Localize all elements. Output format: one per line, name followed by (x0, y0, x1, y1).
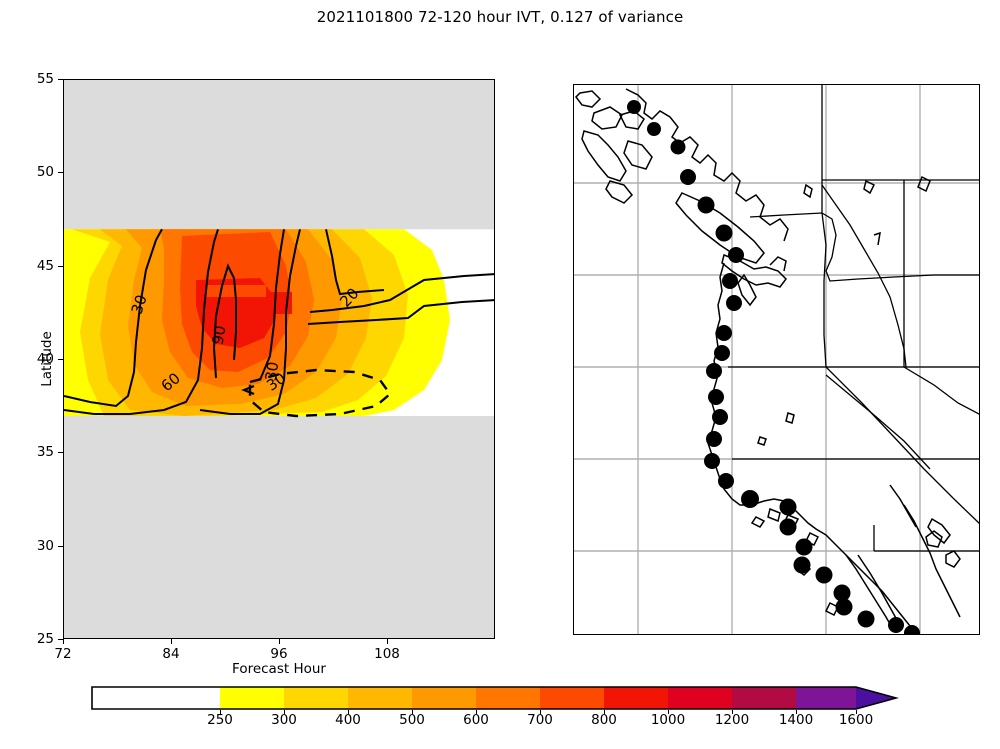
cbar-tick-label: 250 (207, 712, 233, 728)
cbar-tick-label: 800 (591, 712, 617, 728)
cbar-tick-label: 1000 (651, 712, 685, 728)
hovmoller-svg: 30 60 90 30 20 30 (64, 80, 495, 639)
ytick-mark (58, 79, 63, 80)
ytick-label: 45 (37, 258, 54, 274)
ytick-mark (58, 172, 63, 173)
cbar-tick-label: 400 (335, 712, 361, 728)
station-marker (780, 519, 797, 536)
contour-label: 90 (209, 324, 230, 346)
station-marker (706, 431, 722, 447)
xtick-mark (63, 639, 64, 644)
station-marker (718, 473, 734, 489)
xtick-mark (387, 639, 388, 644)
ytick-mark (58, 546, 63, 547)
station-marker (796, 539, 813, 556)
map-svg (574, 85, 980, 635)
station-marker (671, 140, 686, 155)
station-marker (706, 363, 722, 379)
station-marker (714, 345, 730, 361)
cbar-tick-label: 500 (399, 712, 425, 728)
station-marker (704, 453, 720, 469)
reference-map-panel (573, 84, 980, 635)
hovmoller-plot-area: 30 60 90 30 20 30 (63, 79, 495, 639)
station-marker (726, 295, 742, 311)
xtick-label: 96 (270, 646, 287, 662)
ytick-label: 30 (37, 538, 54, 554)
xtick-mark (171, 639, 172, 644)
cbar-tick-label: 700 (527, 712, 553, 728)
hovmoller-panel: 30 60 90 30 20 30 55 50 45 40 35 30 25 (63, 79, 495, 639)
filled-contours (64, 229, 450, 416)
station-marker (708, 389, 724, 405)
station-marker (716, 225, 733, 242)
map-plot-area (573, 84, 980, 635)
station-marker (836, 599, 853, 616)
station-marker (722, 273, 738, 289)
xtick-label: 108 (374, 646, 400, 662)
ytick-mark (58, 266, 63, 267)
station-marker (888, 617, 904, 633)
station-marker (712, 409, 728, 425)
colorbar: 250 300 400 500 600 700 800 1000 1200 14… (91, 686, 909, 710)
x-axis-label: Forecast Hour (63, 661, 495, 677)
y-axis-label: Latitude (39, 331, 55, 387)
xtick-label: 72 (54, 646, 71, 662)
colorbar-svg (91, 686, 909, 710)
cbar-tick-label: 1600 (839, 712, 873, 728)
figure-canvas: 2021101800 72-120 hour IVT, 0.127 of var… (0, 0, 1000, 749)
ytick-label: 50 (37, 164, 54, 180)
ytick-mark (58, 359, 63, 360)
colorbar-segments (92, 687, 896, 709)
cbar-tick-label: 600 (463, 712, 489, 728)
station-marker (716, 325, 732, 341)
station-marker (816, 567, 833, 584)
xtick-mark (279, 639, 280, 644)
station-marker (741, 490, 759, 508)
station-marker (627, 100, 641, 114)
station-marker (680, 169, 696, 185)
ytick-mark (58, 452, 63, 453)
station-marker (794, 557, 811, 574)
figure-title: 2021101800 72-120 hour IVT, 0.127 of var… (0, 8, 1000, 26)
cbar-tick-label: 300 (271, 712, 297, 728)
ytick-label: 55 (37, 71, 54, 87)
cbar-tick-label: 1400 (779, 712, 813, 728)
station-marker (647, 122, 661, 136)
cbar-tick-label: 1200 (715, 712, 749, 728)
station-marker (780, 499, 797, 516)
ytick-label: 35 (37, 444, 54, 460)
station-marker (698, 197, 715, 214)
station-marker (728, 247, 744, 263)
xtick-label: 84 (162, 646, 179, 662)
station-marker (858, 611, 875, 628)
ytick-label: 25 (37, 631, 54, 647)
